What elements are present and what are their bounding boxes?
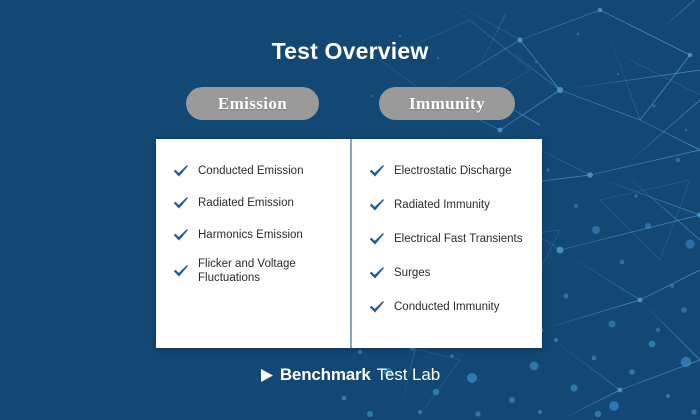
check-icon [366, 161, 388, 181]
list-item[interactable]: Conducted Emission [170, 161, 336, 181]
slide-canvas: Test Overview Emission Immunity Conducte… [0, 0, 700, 420]
pill-immunity-label: Immunity [409, 94, 485, 114]
list-item[interactable]: Radiated Immunity [366, 195, 528, 215]
list-item-label: Electrical Fast Transients [394, 232, 522, 246]
list-item-label: Conducted Emission [198, 164, 303, 178]
list-item[interactable]: Radiated Emission [170, 193, 336, 213]
list-item-label: Electrostatic Discharge [394, 164, 512, 178]
list-item-label: Surges [394, 266, 430, 280]
check-icon [366, 229, 388, 249]
brand-name: Benchmark [280, 365, 371, 385]
list-item-label: Flicker and Voltage Fluctuations [198, 257, 336, 285]
emission-card: Conducted Emission Radiated Emission Har… [156, 139, 352, 348]
list-item[interactable]: Flicker and Voltage Fluctuations [170, 257, 336, 285]
brand-suffix: Test Lab [377, 365, 440, 385]
test-list-panel: Conducted Emission Radiated Emission Har… [156, 139, 542, 348]
check-icon [170, 261, 192, 281]
list-item[interactable]: Harmonics Emission [170, 225, 336, 245]
list-item-label: Radiated Immunity [394, 198, 490, 212]
check-icon [170, 225, 192, 245]
check-icon [366, 195, 388, 215]
list-item[interactable]: Conducted Immunity [366, 297, 528, 317]
brand-logo: Benchmark Test Lab [0, 365, 700, 385]
check-icon [170, 161, 192, 181]
check-icon [366, 263, 388, 283]
list-item[interactable]: Electrostatic Discharge [366, 161, 528, 181]
page-title: Test Overview [0, 38, 700, 65]
list-item-label: Conducted Immunity [394, 300, 499, 314]
list-item[interactable]: Surges [366, 263, 528, 283]
list-item-label: Radiated Emission [198, 196, 294, 210]
pill-emission-label: Emission [218, 94, 287, 114]
immunity-card: Electrostatic Discharge Radiated Immunit… [352, 139, 542, 348]
check-icon [170, 193, 192, 213]
pill-emission[interactable]: Emission [186, 87, 319, 120]
check-icon [366, 297, 388, 317]
pill-immunity[interactable]: Immunity [379, 87, 515, 120]
list-item[interactable]: Electrical Fast Transients [366, 229, 528, 249]
play-triangle-icon [260, 368, 274, 383]
list-item-label: Harmonics Emission [198, 228, 303, 242]
